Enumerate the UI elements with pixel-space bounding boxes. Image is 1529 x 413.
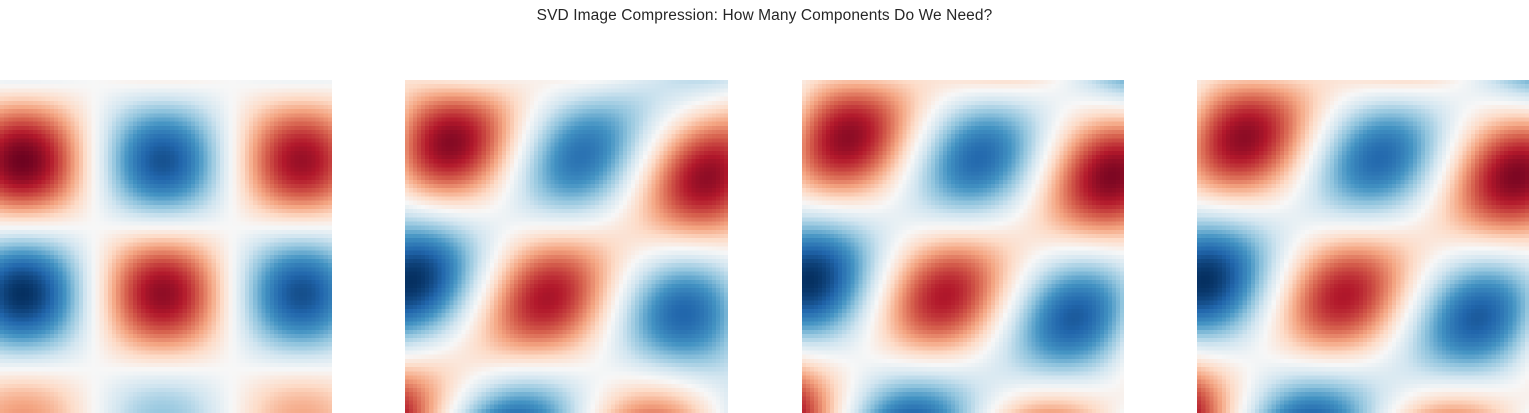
subplot-panel-rank-80[interactable]: Rank 80 0.5x compression bbox=[1197, 80, 1529, 413]
heatmap-canvas-rank-80 bbox=[1197, 80, 1529, 413]
subplot-panel-rank-3[interactable]: Rank 3 13.3x compression bbox=[405, 80, 728, 413]
heatmap-canvas-rank-3 bbox=[405, 80, 728, 413]
heatmap-canvas-rank-10 bbox=[802, 80, 1124, 413]
figure-canvas: SVD Image Compression: How Many Componen… bbox=[0, 0, 1529, 413]
figure-title: SVD Image Compression: How Many Componen… bbox=[0, 7, 1529, 25]
heatmap-canvas-rank-1 bbox=[0, 80, 332, 413]
heatmap-image-rank-1 bbox=[0, 80, 332, 413]
subplot-panel-rank-10[interactable]: Rank 10 4.0x compression bbox=[802, 80, 1124, 413]
heatmap-image-rank-80 bbox=[1197, 80, 1529, 413]
subplot-panel-rank-1[interactable]: Rank 1 39.8x compression bbox=[0, 80, 332, 413]
heatmap-image-rank-10 bbox=[802, 80, 1124, 413]
heatmap-image-rank-3 bbox=[405, 80, 728, 413]
